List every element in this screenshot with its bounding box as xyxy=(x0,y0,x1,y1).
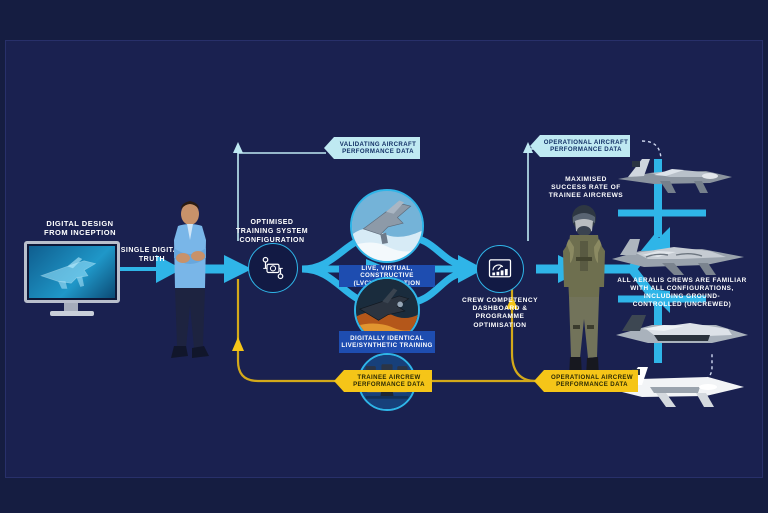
dash-line1: CREW COMPETENCY xyxy=(450,297,550,305)
digital-design-line1: DIGITAL DESIGN xyxy=(20,219,140,228)
optimised-line2: TRAINING SYSTEM xyxy=(220,228,324,237)
trainee-line2: PERFORMANCE DATA xyxy=(353,381,425,388)
op-aircrew-line2: PERFORMANCE DATA xyxy=(556,381,628,388)
dash-line4: OPTIMISATION xyxy=(450,322,550,330)
engineer-figure xyxy=(161,196,219,381)
trainee-line1: TRAINEE AIRCREW xyxy=(357,374,420,381)
digital-design-title: DIGITAL DESIGN FROM INCEPTION xyxy=(20,219,140,238)
trainer-jet-grey xyxy=(610,151,740,197)
fighter-jet-camo xyxy=(606,233,750,279)
optimised-line1: OPTIMISED xyxy=(220,219,324,228)
optimised-config-title: OPTIMISED TRAINING SYSTEM CONFIGURATION xyxy=(220,219,324,245)
diagram-panel: DIGITAL DESIGN FROM INCEPTION SINGLE DIG… xyxy=(5,40,763,478)
validating-arrowhead xyxy=(233,142,243,153)
validating-line1: VALIDATING AIRCRAFT xyxy=(340,141,417,148)
crews-line4: CONTROLLED (UNCREWED) xyxy=(606,301,758,309)
crew-dashboard-title: CREW COMPETENCY DASHBOARD & PROGRAMME OP… xyxy=(450,297,550,330)
live-synthetic-label-chip: DIGITALLY IDENTICAL LIVE/SYNTHETIC TRAIN… xyxy=(339,331,435,353)
validating-line2: PERFORMANCE DATA xyxy=(342,148,414,155)
crews-familiar-title: ALL AERALIS CREWS ARE FAMILIAR WITH ALL … xyxy=(606,277,758,309)
operational-aircrew-rail xyxy=(512,279,536,381)
livesyn-line1: DIGITALLY IDENTICAL xyxy=(350,335,424,342)
stealth-jet-dark xyxy=(612,311,754,357)
digital-design-line2: FROM INCEPTION xyxy=(20,228,140,237)
op-aircraft-line1: OPERATIONAL AIRCRAFT xyxy=(544,139,628,146)
crews-line2: WITH ALL CONFIGURATIONS, xyxy=(606,285,758,293)
trainee-aircrew-chip: TRAINEE AIRCREW PERFORMANCE DATA xyxy=(334,370,432,392)
dash-line2: DASHBOARD & xyxy=(450,305,550,313)
dashboard-gauge-icon[interactable] xyxy=(476,245,524,293)
validating-aircraft-chip: VALIDATING AIRCRAFT PERFORMANCE DATA xyxy=(324,137,420,159)
infographic-canvas: DIGITAL DESIGN FROM INCEPTION SINGLE DIG… xyxy=(0,0,768,513)
operational-aircrew-chip: OPERATIONAL AIRCREW PERFORMANCE DATA xyxy=(534,370,638,392)
dash-line3: PROGRAMME xyxy=(450,313,550,321)
operational-aircraft-chip: OPERATIONAL AIRCRAFT PERFORMANCE DATA xyxy=(530,135,630,157)
crews-line3: INCLUDING GROUND- xyxy=(606,293,758,301)
op-aircraft-line2: PERFORMANCE DATA xyxy=(550,146,622,153)
network-config-icon[interactable] xyxy=(248,243,298,293)
op-aircrew-line1: OPERATIONAL AIRCREW xyxy=(551,374,633,381)
lvc-photo-circle[interactable] xyxy=(350,189,424,263)
aircraft-wireframe xyxy=(29,246,115,298)
crews-line1: ALL AERALIS CREWS ARE FAMILIAR xyxy=(606,277,758,285)
livesyn-line2: LIVE/SYNTHETIC TRAINING xyxy=(341,342,432,349)
trainee-rail-arrowhead xyxy=(232,337,244,351)
